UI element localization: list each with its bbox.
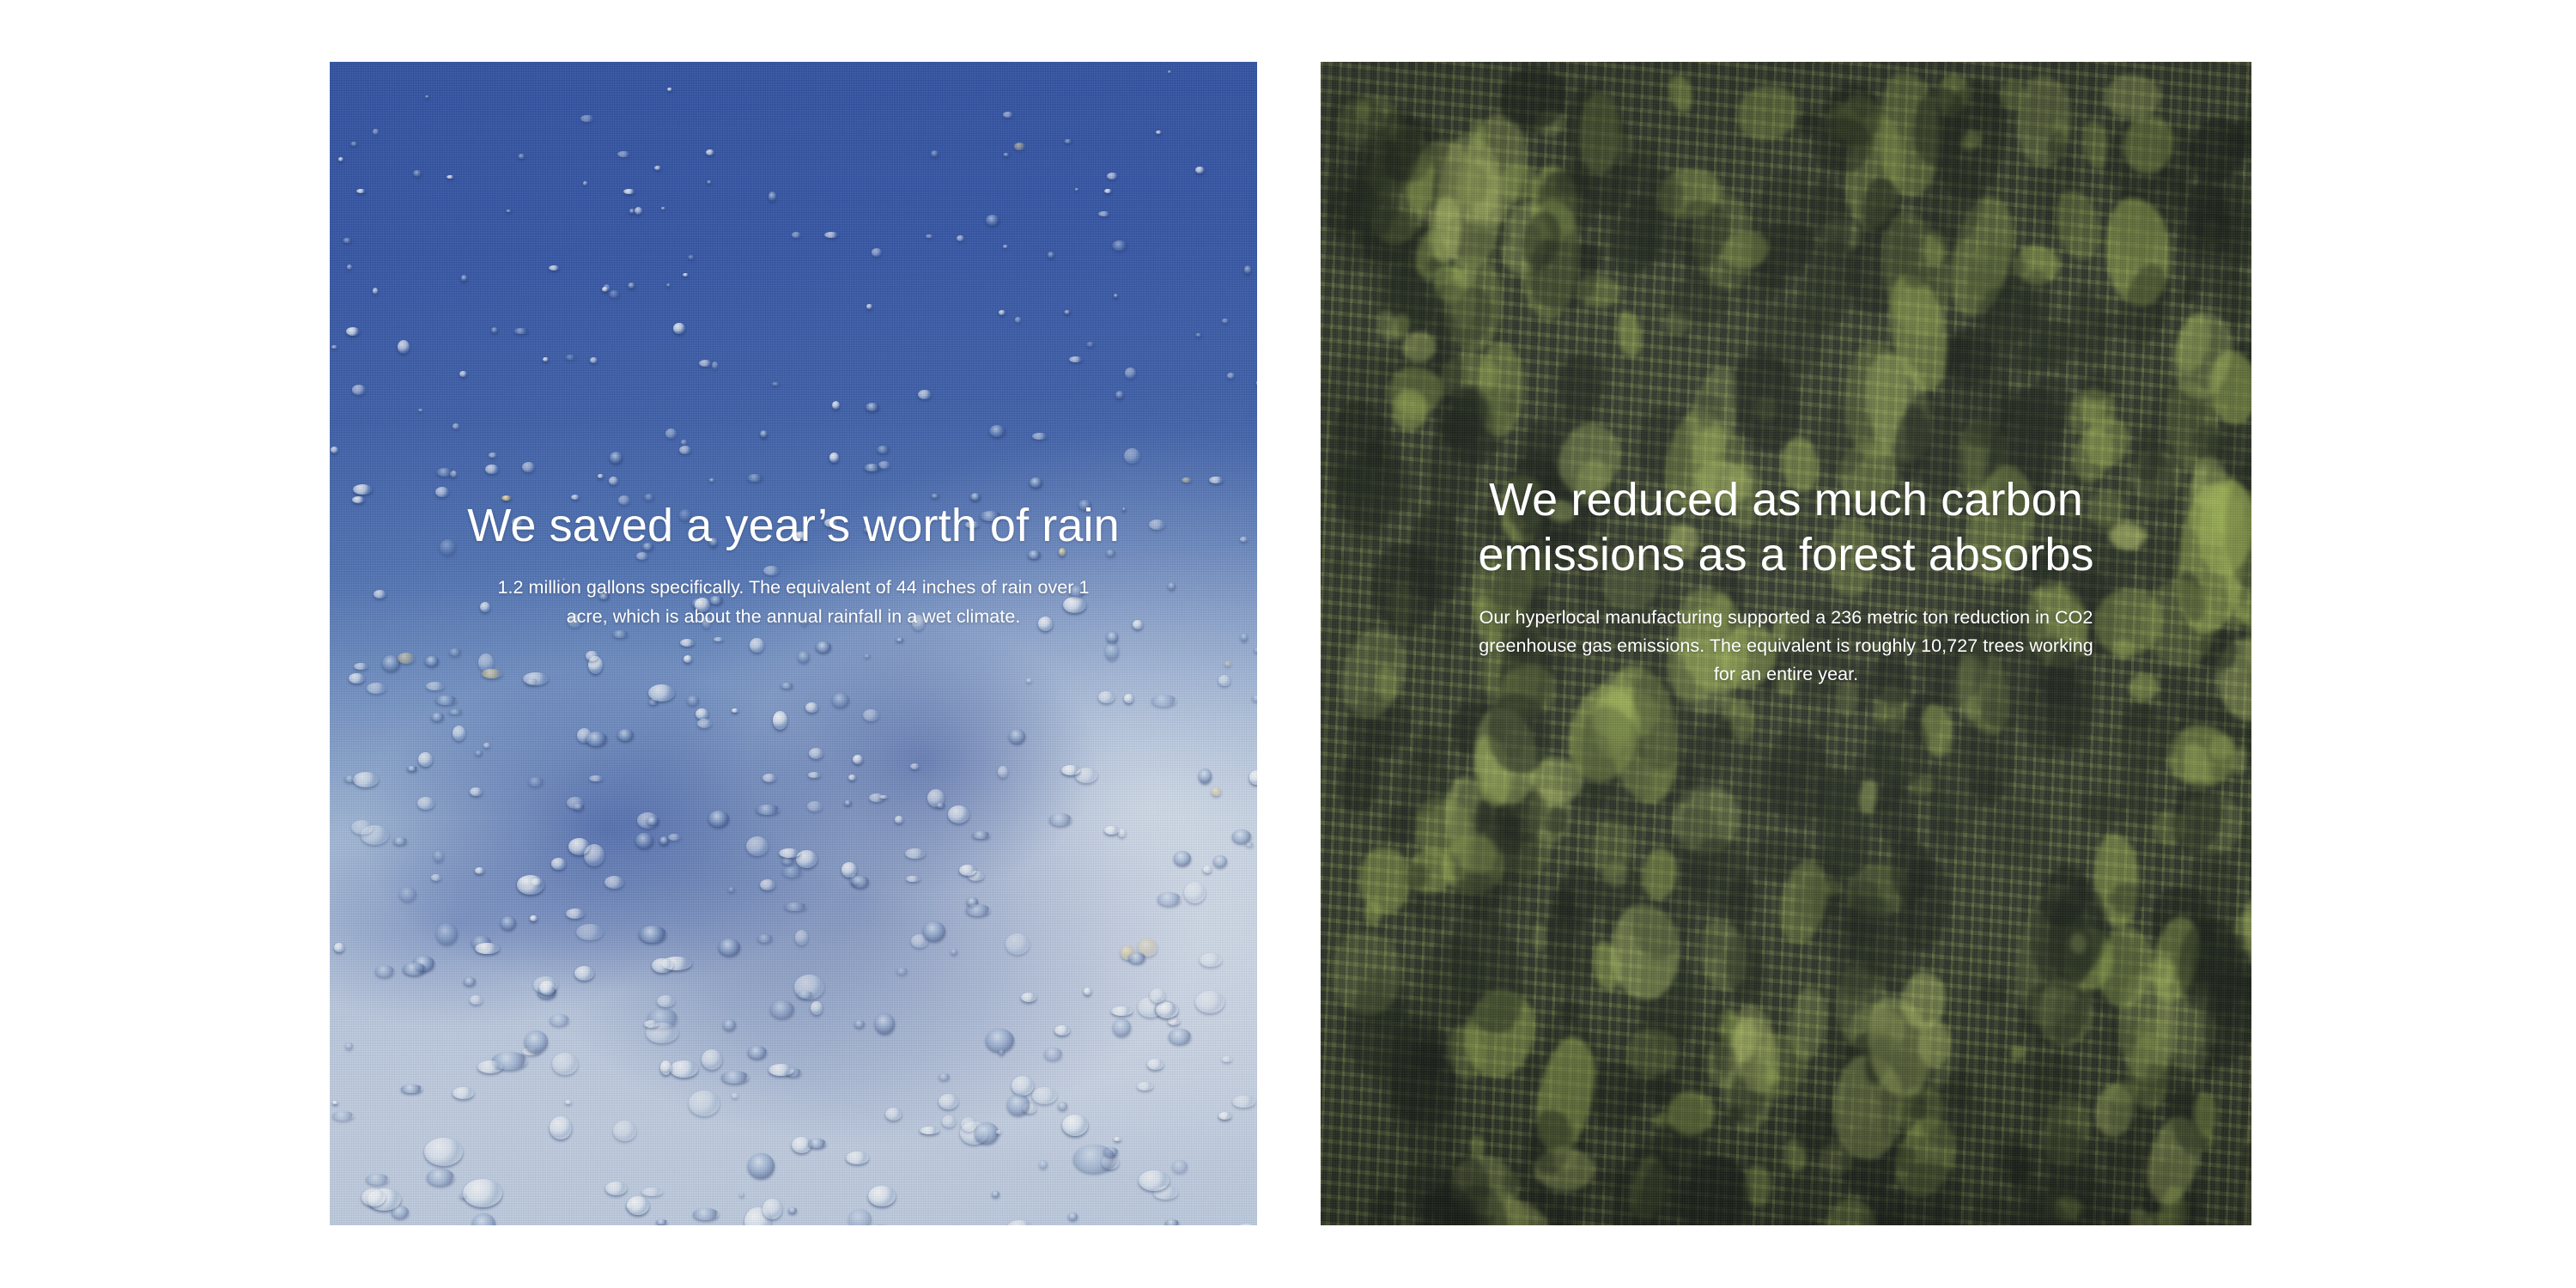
carbon-card-text-overlay: We reduced as much carbon emissions as a…	[1321, 62, 2251, 1225]
rain-card-text-overlay: We saved a year’s worth of rain 1.2 mill…	[330, 62, 1257, 1225]
rain-card-body: 1.2 million gallons specifically. The eq…	[493, 574, 1094, 631]
page-canvas: We saved a year’s worth of rain 1.2 mill…	[0, 0, 2576, 1288]
carbon-card-headline: We reduced as much carbon emissions as a…	[1460, 472, 2112, 583]
rain-savings-card: We saved a year’s worth of rain 1.2 mill…	[330, 62, 1257, 1225]
rain-card-headline: We saved a year’s worth of rain	[467, 498, 1119, 553]
carbon-reduction-card: We reduced as much carbon emissions as a…	[1321, 62, 2251, 1225]
carbon-card-body: Our hyperlocal manufacturing supported a…	[1473, 604, 2099, 690]
